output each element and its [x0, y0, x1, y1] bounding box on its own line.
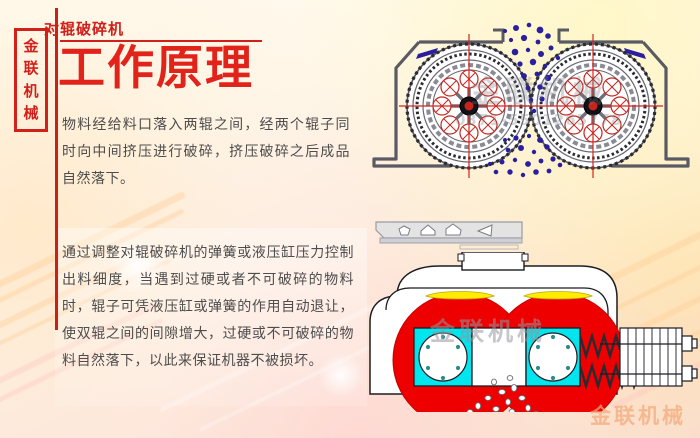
badge-char-1: 金 [23, 39, 38, 54]
double-roll-crusher-schematic [372, 14, 690, 204]
badge-char-4: 械 [23, 106, 38, 121]
subtitle: 对辊破碎机 [44, 18, 124, 39]
page-title: 工作原理 [58, 44, 254, 93]
brand-badge: 金 联 机 械 [14, 28, 48, 132]
poster-root: 金 联 机 械 对辊破碎机 工作原理 物料经给料口落入两辊之间，经两个辊子同时向… [0, 0, 700, 438]
badge-char-3: 机 [23, 84, 38, 99]
crusher-cross-section [362, 252, 698, 412]
feed-conveyor-strip [374, 216, 524, 250]
bearing-blocks [414, 328, 580, 386]
badge-char-2: 联 [23, 61, 38, 76]
paragraph-adjustment: 通过调整对辊破碎机的弹簧或液压缸压力控制出料细度，当遇到过硬或者不可破碎的物料时… [62, 240, 354, 375]
paragraph-working-principle: 物料经给料口落入两辊之间，经两个辊子同时向中间挤压进行破碎，挤压破碎之后成品自然… [62, 112, 350, 193]
